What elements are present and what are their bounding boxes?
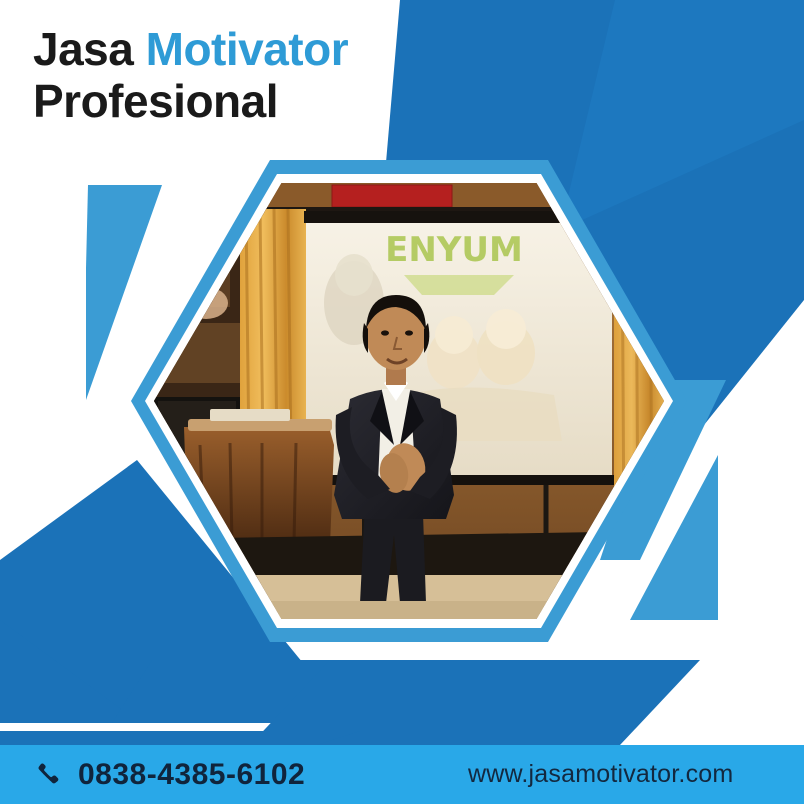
headline-word-jasa: Jasa bbox=[33, 23, 133, 75]
headline-line-1: Jasa Motivator bbox=[33, 26, 348, 73]
phone-handset-icon bbox=[36, 761, 64, 789]
phone-contact[interactable]: 0838-4385-6102 bbox=[36, 758, 305, 792]
website-url-text[interactable]: www.jasamotivator.com bbox=[468, 760, 733, 789]
footer-accent-strip bbox=[0, 731, 360, 745]
svg-text:ENYUM: ENYUM bbox=[385, 230, 523, 270]
hexagon-photo-frame: ENYUM bbox=[131, 160, 687, 642]
poster-canvas: Jasa Motivator Profesional bbox=[0, 0, 804, 804]
headline-block: Jasa Motivator Profesional bbox=[33, 26, 348, 125]
headline-word-motivator: Motivator bbox=[146, 23, 349, 75]
phone-number-text: 0838-4385-6102 bbox=[78, 758, 305, 792]
contact-footer: 0838-4385-6102 www.jasamotivator.com bbox=[0, 745, 804, 804]
headline-line-2: Profesional bbox=[33, 78, 348, 125]
